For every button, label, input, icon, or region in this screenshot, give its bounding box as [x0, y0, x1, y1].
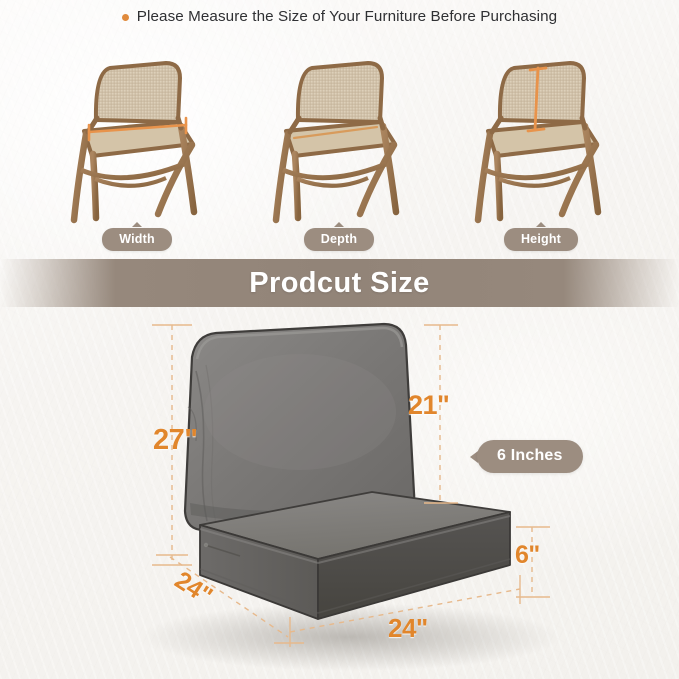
chair-label-width-text: Width	[102, 228, 172, 251]
header-note-text: Please Measure the Size of Your Furnitur…	[137, 8, 557, 25]
chair-label-width: Width	[62, 222, 212, 251]
chair-label-depth-text: Depth	[304, 228, 374, 251]
pill-notch-icon	[536, 222, 546, 227]
chair-label-height-text: Height	[504, 228, 578, 251]
chair-width-svg	[62, 52, 212, 227]
chair-label-height: Height	[466, 222, 616, 251]
cushion-illustration	[0, 307, 679, 679]
dimension-label-back-face: 21"	[408, 390, 449, 421]
pill-notch-icon	[132, 222, 142, 227]
thickness-badge: 6 Inches	[470, 440, 583, 473]
dimension-label-back-height: 27"	[153, 424, 198, 457]
chair-label-depth: Depth	[264, 222, 414, 251]
dimension-label-seat-thickness: 6"	[515, 541, 540, 570]
infographic-canvas: Please Measure the Size of Your Furnitur…	[0, 0, 679, 679]
header-note: Please Measure the Size of Your Furnitur…	[0, 8, 679, 25]
dimension-label-seat-width: 24"	[388, 613, 428, 644]
section-banner-title: Prodcut Size	[249, 267, 429, 300]
chair-depth-svg	[264, 52, 414, 227]
section-banner: Prodcut Size	[0, 259, 679, 307]
thickness-badge-text: 6 Inches	[477, 440, 583, 473]
chair-illustration-width	[62, 52, 212, 227]
orange-dot-icon	[122, 14, 129, 21]
pill-notch-icon	[334, 222, 344, 227]
chair-illustration-height	[466, 52, 616, 227]
product-photo-area: 27" 21" 6" 24" 24" 6 Inches	[0, 307, 679, 679]
chair-height-svg	[466, 52, 616, 227]
chair-illustration-depth	[264, 52, 414, 227]
